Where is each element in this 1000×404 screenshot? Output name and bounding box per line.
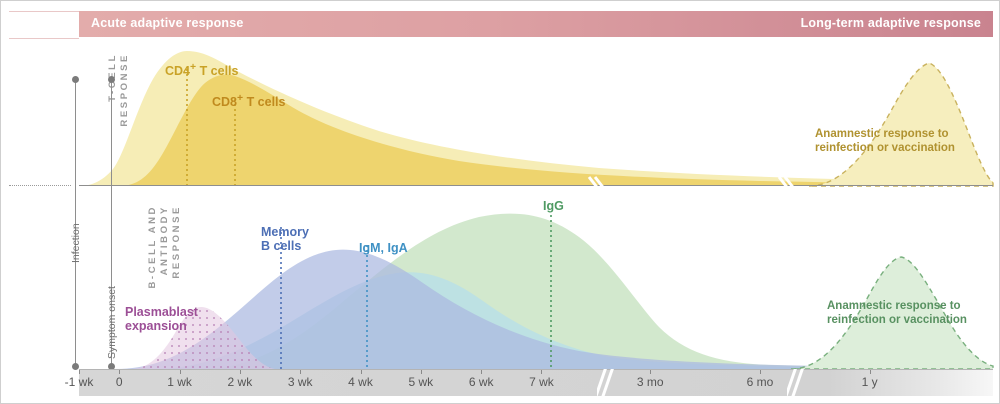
plasmablast-line-2: expansion [125, 319, 198, 333]
tcell-anamnestic-area [809, 63, 993, 186]
cd4-label: CD4+ T cells [165, 61, 238, 78]
x-tick-label-10: 6 mo [747, 375, 774, 389]
infection-dot-top [72, 76, 79, 83]
x-tick-mark-5 [361, 370, 362, 374]
tcell-baseline-dotted-extension [9, 185, 71, 187]
longterm-phase-label: Long-term adaptive response [801, 16, 981, 30]
cd8-label-text: CD8 [212, 95, 237, 109]
bcell-panel: Plasmablast expansion Memory B cells IgM… [79, 197, 993, 369]
x-axis-break-0 [597, 369, 615, 396]
tcell-panel: CD4+ T cells CD8+ T cells Anamnestic res… [79, 45, 993, 186]
x-tick-mark-0 [79, 370, 80, 374]
x-tick-label-8: 7 wk [529, 375, 554, 389]
bcell-anamnestic-line-2: reinfection or vaccination [827, 313, 967, 327]
x-tick-label-11: 1 y [862, 375, 878, 389]
x-tick-mark-2 [180, 370, 181, 374]
x-tick-mark-11 [870, 370, 871, 374]
phase-bar: Acute adaptive response Long-term adapti… [79, 11, 993, 37]
cd8-label: CD8+ T cells [212, 92, 285, 109]
x-tick-label-7: 6 wk [469, 375, 494, 389]
plasmablast-line-1: Plasmablast [125, 305, 198, 319]
figure-root: Acute adaptive response Long-term adapti… [0, 0, 1000, 404]
bcell-plot [79, 197, 993, 369]
header-corner-blank [9, 11, 79, 39]
x-tick-mark-6 [421, 370, 422, 374]
plasmablast-label: Plasmablast expansion [125, 305, 198, 333]
cd4-label-text: CD4 [165, 64, 190, 78]
infection-dot-bottom [72, 363, 79, 370]
bcell-anamnestic-line-1: Anamnestic response to [827, 299, 967, 313]
tcell-anamnestic-line-1: Anamnestic response to [815, 127, 955, 141]
x-tick-mark-8 [541, 370, 542, 374]
memory-b-line-2: B cells [261, 239, 309, 253]
x-tick-mark-7 [481, 370, 482, 374]
x-axis: -1 wk01 wk2 wk3 wk4 wk5 wk6 wk7 wk3 mo6 … [79, 369, 993, 396]
x-tick-mark-3 [240, 370, 241, 374]
igg-label: IgG [543, 199, 564, 213]
x-tick-label-4: 3 wk [288, 375, 313, 389]
x-tick-mark-1 [119, 370, 120, 374]
x-tick-mark-10 [760, 370, 761, 374]
x-tick-label-2: 1 wk [167, 375, 192, 389]
cd8-label-rest: T cells [243, 95, 285, 109]
x-tick-mark-4 [300, 370, 301, 374]
x-tick-label-6: 5 wk [408, 375, 433, 389]
symptom-onset-dot-top [108, 76, 115, 83]
cd4-label-rest: T cells [196, 64, 238, 78]
x-tick-mark-9 [650, 370, 651, 374]
x-axis-break-1 [787, 369, 805, 396]
infection-label: Infection [70, 223, 82, 263]
igm-iga-label: IgM, IgA [359, 241, 408, 255]
x-tick-label-0: -1 wk [65, 375, 94, 389]
memory-b-label: Memory B cells [261, 225, 309, 253]
x-tick-label-9: 3 mo [637, 375, 664, 389]
tcell-anamnestic-label: Anamnestic response to reinfection or va… [815, 127, 955, 155]
symptom-onset-label: Symptom onset [106, 286, 118, 359]
tcell-anamnestic-line-2: reinfection or vaccination [815, 141, 955, 155]
acute-phase-label: Acute adaptive response [91, 16, 244, 30]
x-tick-label-5: 4 wk [348, 375, 373, 389]
x-tick-label-3: 2 wk [228, 375, 253, 389]
memory-b-line-1: Memory [261, 225, 309, 239]
bcell-anamnestic-label: Anamnestic response to reinfection or va… [827, 299, 967, 327]
x-tick-label-1: 0 [116, 375, 123, 389]
